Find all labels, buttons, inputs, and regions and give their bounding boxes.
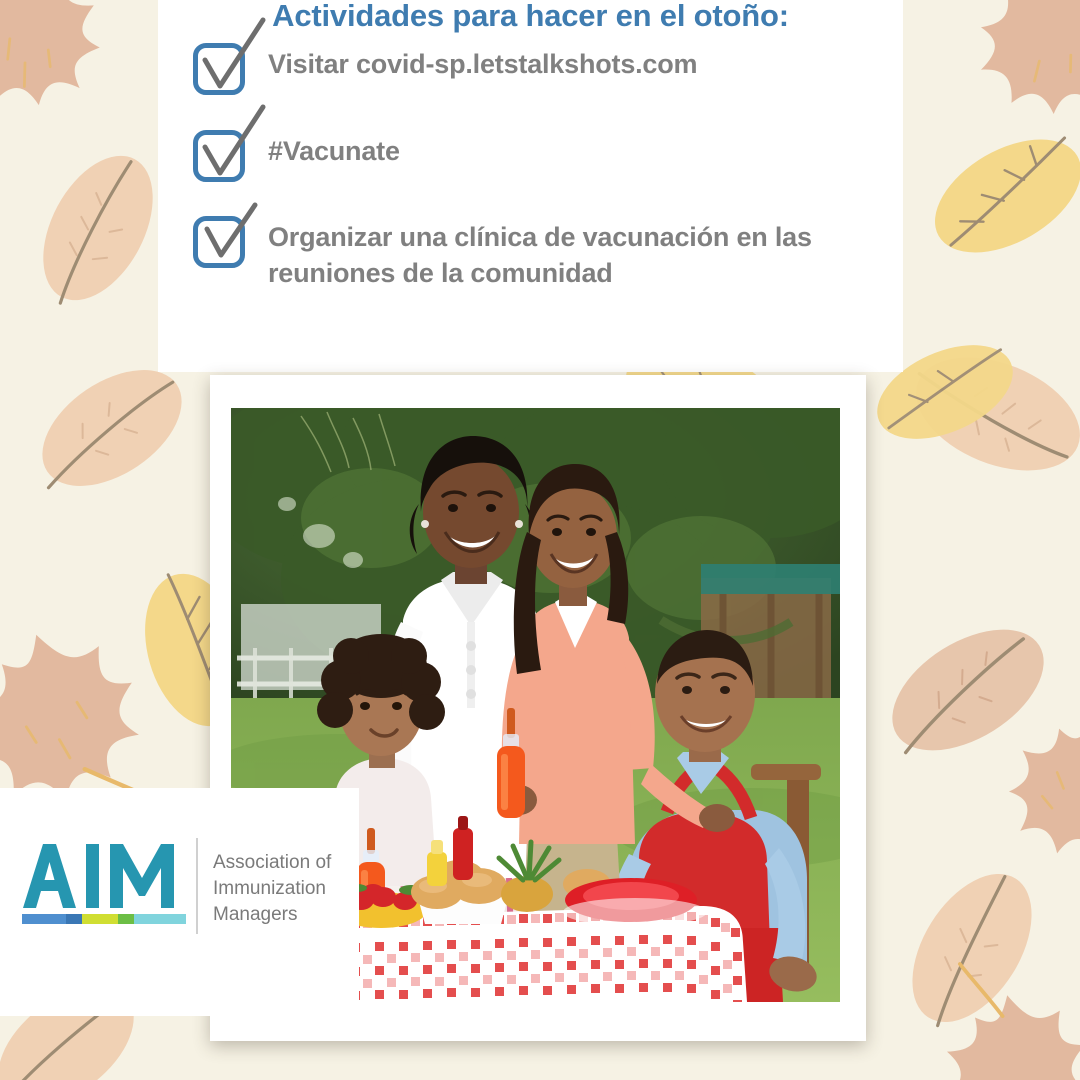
poster-canvas: Actividades para hacer en el otoño: Visi… xyxy=(0,0,1080,1080)
checklist-item[interactable]: #Vacunate xyxy=(188,125,400,187)
checklist-card: Actividades para hacer en el otoño: Visi… xyxy=(158,0,903,372)
logo-divider xyxy=(196,838,198,934)
checkbox-checked-icon[interactable] xyxy=(188,38,250,100)
checklist-item[interactable]: Organizar una clínica de vacunación en l… xyxy=(188,211,848,292)
checklist-item[interactable]: Visitar covid-sp.letstalkshots.com xyxy=(188,38,697,100)
checklist-item-label: #Vacunate xyxy=(250,125,400,170)
checkbox-checked-icon[interactable] xyxy=(188,211,250,273)
checkbox-checked-icon[interactable] xyxy=(188,125,250,187)
checkmark-icon xyxy=(185,103,271,195)
checklist-item-label: Visitar covid-sp.letstalkshots.com xyxy=(250,38,697,83)
aim-logo-mark xyxy=(20,838,188,924)
aim-logo-card: Association of Immunization Managers xyxy=(0,788,359,1016)
org-name-line-2: Immunization xyxy=(213,876,353,902)
organization-name: Association of Immunization Managers xyxy=(213,850,353,929)
org-name-line-1: Association of xyxy=(213,850,353,876)
org-name-line-3: Managers xyxy=(213,902,353,928)
checkmark-icon xyxy=(185,189,271,281)
checkmark-icon xyxy=(185,16,271,108)
checklist-item-label: Organizar una clínica de vacunación en l… xyxy=(250,211,848,292)
